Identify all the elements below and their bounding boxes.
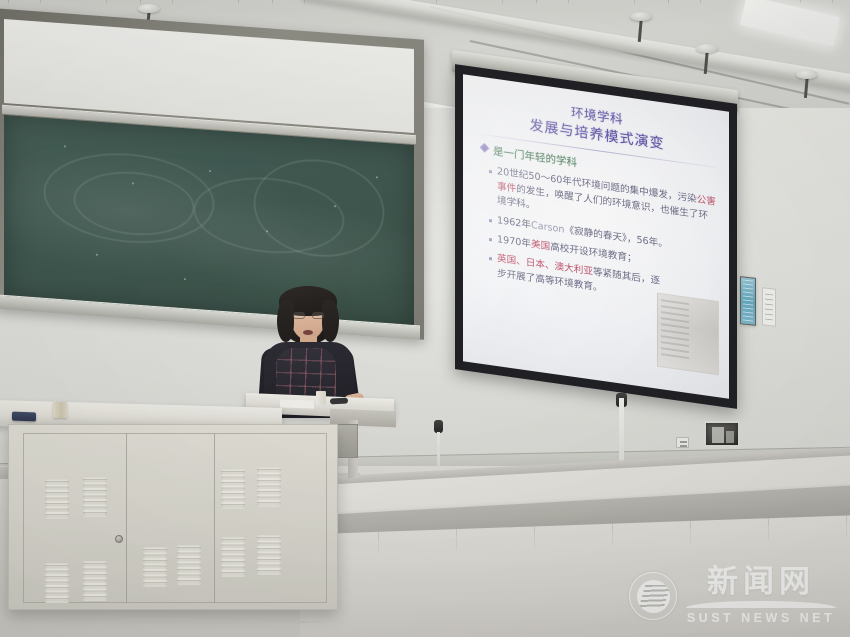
vent-louver: [257, 467, 281, 507]
hair-right-side: [322, 300, 339, 342]
mouth: [303, 330, 313, 335]
watermark: 新闻网 SUST NEWS NET: [629, 567, 836, 625]
blackboard-eraser[interactable]: [12, 412, 36, 422]
vent-louver: [221, 537, 245, 577]
diamond-bullet-icon: [480, 143, 490, 153]
chalk-box[interactable]: [53, 402, 67, 418]
vent-louver: [45, 479, 69, 519]
glasses-icon: [293, 312, 324, 319]
square-bullet-icon: [489, 257, 492, 260]
paper-text-lines: [765, 294, 773, 321]
hair-left-side: [277, 300, 294, 342]
lecture-hall-photo: 环境学科 发展与培养模式演变 是一门年轻的学科 20世纪50～60年代环境问题的…: [0, 0, 850, 637]
vent-louver: [83, 561, 107, 601]
lectern-equipment-box: [336, 424, 358, 458]
cabinet-lock[interactable]: [115, 535, 123, 543]
square-bullet-icon: [489, 219, 492, 222]
cabinet-door[interactable]: [127, 433, 215, 603]
cup: [316, 391, 326, 405]
watermark-swoosh: [686, 601, 836, 608]
seal-inner: [637, 580, 670, 613]
square-bullet-icon: [489, 170, 492, 173]
presentation-slide: 环境学科 发展与培养模式演变 是一门年轻的学科 20世纪50～60年代环境问题的…: [463, 74, 729, 398]
wall-notice-board: [740, 276, 756, 326]
light-stem-cap: [630, 12, 652, 21]
university-seal-icon: [629, 572, 677, 620]
light-stem-cap: [696, 44, 718, 53]
vent-louver: [143, 547, 167, 587]
podium-cabinet: [8, 424, 338, 610]
notice-text-lines: [743, 279, 753, 322]
vent-louver: [257, 535, 281, 575]
book-cover-texture: [661, 299, 689, 363]
watermark-english: SUST NEWS NET: [687, 611, 835, 625]
paper-on-lectern: [280, 399, 314, 408]
projection-screen: 环境学科 发展与培养模式演变 是一门年轻的学科 20世纪50～60年代环境问题的…: [455, 64, 737, 409]
wall-cable-run: [619, 398, 624, 468]
cabinet-door[interactable]: [215, 433, 307, 603]
wall-paper-notice: [762, 287, 776, 326]
cabinet-door[interactable]: [23, 433, 127, 603]
watermark-chinese: 新闻网: [707, 567, 815, 598]
watermark-texts: 新闻网 SUST NEWS NET: [686, 567, 836, 625]
screen-surface: 环境学科 发展与培养模式演变 是一门年轻的学科 20世纪50～60年代环境问题的…: [463, 74, 729, 398]
silent-spring-book-image: [657, 293, 719, 376]
vent-louver: [177, 545, 201, 585]
light-stem-cap: [796, 70, 818, 79]
power-socket[interactable]: [676, 437, 689, 448]
vent-louver: [83, 477, 107, 517]
electrical-junction-box: [704, 421, 740, 447]
presenter-remote[interactable]: [330, 398, 348, 405]
author-portrait: [686, 304, 716, 354]
vent-louver: [221, 469, 245, 509]
vent-louver: [45, 563, 69, 603]
light-stem-cap: [138, 4, 160, 13]
square-bullet-icon: [489, 238, 492, 241]
